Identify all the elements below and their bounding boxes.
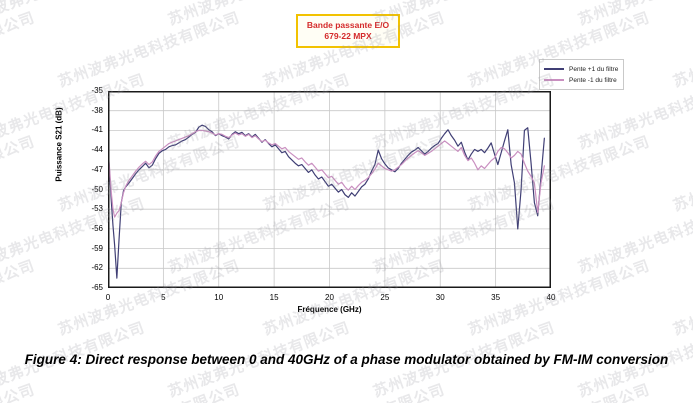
plot-svg [108, 91, 551, 288]
chart-title-line-1: Bande passante E/O [300, 20, 396, 31]
figure-caption: Figure 4: Direct response between 0 and … [18, 350, 675, 370]
y-tick-label: -38 [77, 106, 103, 115]
chart-title-box: Bande passante E/O 679-22 MPX [296, 14, 400, 48]
legend-label: Pente +1 du filtre [569, 66, 618, 73]
y-axis-title: Puissance S21 (dB) [55, 80, 64, 210]
x-tick-label: 0 [95, 293, 121, 302]
y-tick-label: -62 [77, 263, 103, 272]
legend-label: Pente -1 du filtre [569, 77, 617, 84]
y-tick-label: -35 [77, 86, 103, 95]
x-tick-label: 5 [150, 293, 176, 302]
y-tick-label: -59 [77, 244, 103, 253]
legend-swatch-icon [544, 79, 564, 81]
legend-item-0[interactable]: Pente +1 du filtre [544, 64, 618, 74]
y-tick-label: -50 [77, 185, 103, 194]
y-tick-label: -56 [77, 224, 103, 233]
chart-legend: Pente +1 du filtrePente -1 du filtre [539, 59, 624, 90]
x-tick-label: 35 [483, 293, 509, 302]
plot-area [108, 91, 551, 288]
x-tick-label: 30 [427, 293, 453, 302]
legend-item-1[interactable]: Pente -1 du filtre [544, 75, 618, 85]
legend-swatch-icon [544, 68, 564, 70]
chart-title-line-2: 679-22 MPX [300, 31, 396, 42]
x-tick-label: 20 [317, 293, 343, 302]
y-tick-label: -65 [77, 283, 103, 292]
x-tick-label: 25 [372, 293, 398, 302]
x-tick-label: 10 [206, 293, 232, 302]
x-tick-label: 40 [538, 293, 564, 302]
y-tick-label: -53 [77, 204, 103, 213]
y-tick-label: -41 [77, 125, 103, 134]
x-axis-title: Fréquence (GHz) [108, 305, 551, 314]
x-tick-label: 15 [261, 293, 287, 302]
figure-container: Bande passante E/O 679-22 MPX Pente +1 d… [0, 0, 693, 403]
y-tick-label: -44 [77, 145, 103, 154]
y-tick-label: -47 [77, 165, 103, 174]
